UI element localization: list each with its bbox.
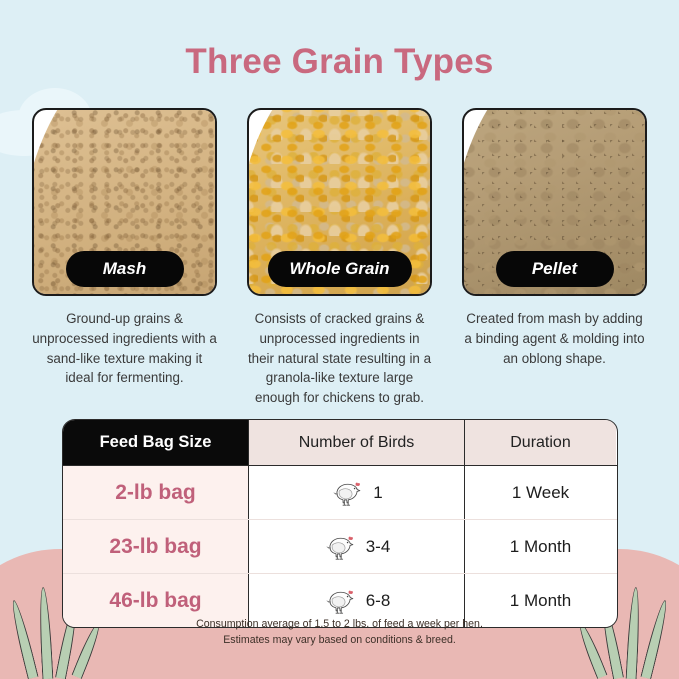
cell-birds: 3-4: [248, 520, 464, 573]
grain-card-list: Mash Ground-up grains & unprocessed ingr…: [32, 108, 647, 408]
page-title: Three Grain Types: [0, 42, 679, 82]
grain-card-whole-grain: Whole Grain Consists of cracked grains &…: [247, 108, 432, 408]
table-row: 2-lb bag 1 1 Week: [63, 465, 617, 519]
footnote-line-1: Consumption average of 1.5 to 2 lbs. of …: [0, 617, 679, 633]
cell-bag-size: 2-lb bag: [63, 466, 248, 519]
footnote-line-2: Estimates may vary based on conditions &…: [0, 633, 679, 649]
hen-icon: [323, 586, 357, 616]
footnote: Consumption average of 1.5 to 2 lbs. of …: [0, 617, 679, 649]
header-feed-bag-size: Feed Bag Size: [63, 420, 248, 465]
grain-card-pellet: Pellet Created from mash by adding a bin…: [462, 108, 647, 408]
feed-bag-table: Feed Bag Size Number of Birds Duration 2…: [62, 419, 618, 628]
pellet-description: Created from mash by adding a binding ag…: [462, 309, 647, 368]
header-duration: Duration: [464, 420, 616, 465]
mash-photo: Mash: [32, 108, 217, 296]
hen-icon: [330, 478, 364, 508]
cell-birds-count: 6-8: [366, 591, 391, 611]
hen-icon: [323, 532, 357, 562]
mash-description: Ground-up grains & unprocessed ingredien…: [32, 309, 217, 388]
table-row: 23-lb bag 3-4 1 Month: [63, 519, 617, 573]
header-number-of-birds: Number of Birds: [248, 420, 464, 465]
infographic-canvas: Three Grain Types Mash Ground-up grains …: [0, 0, 679, 679]
table-header: Feed Bag Size Number of Birds Duration: [63, 420, 617, 465]
cell-bag-size: 23-lb bag: [63, 520, 248, 573]
whole-grain-photo: Whole Grain: [247, 108, 432, 296]
whole-grain-description: Consists of cracked grains & unprocessed…: [247, 309, 432, 408]
cell-birds: 1: [248, 466, 464, 519]
whole-grain-label: Whole Grain: [267, 251, 411, 287]
grain-card-mash: Mash Ground-up grains & unprocessed ingr…: [32, 108, 217, 408]
pellet-photo: Pellet: [462, 108, 647, 296]
pellet-label: Pellet: [496, 251, 614, 287]
cell-birds-count: 1: [373, 483, 382, 503]
mash-label: Mash: [66, 251, 184, 287]
cell-duration: 1 Week: [464, 466, 616, 519]
table-body: 2-lb bag 1 1 Week 23-lb bag: [63, 465, 617, 627]
cell-duration: 1 Month: [464, 520, 616, 573]
cell-birds-count: 3-4: [366, 537, 391, 557]
